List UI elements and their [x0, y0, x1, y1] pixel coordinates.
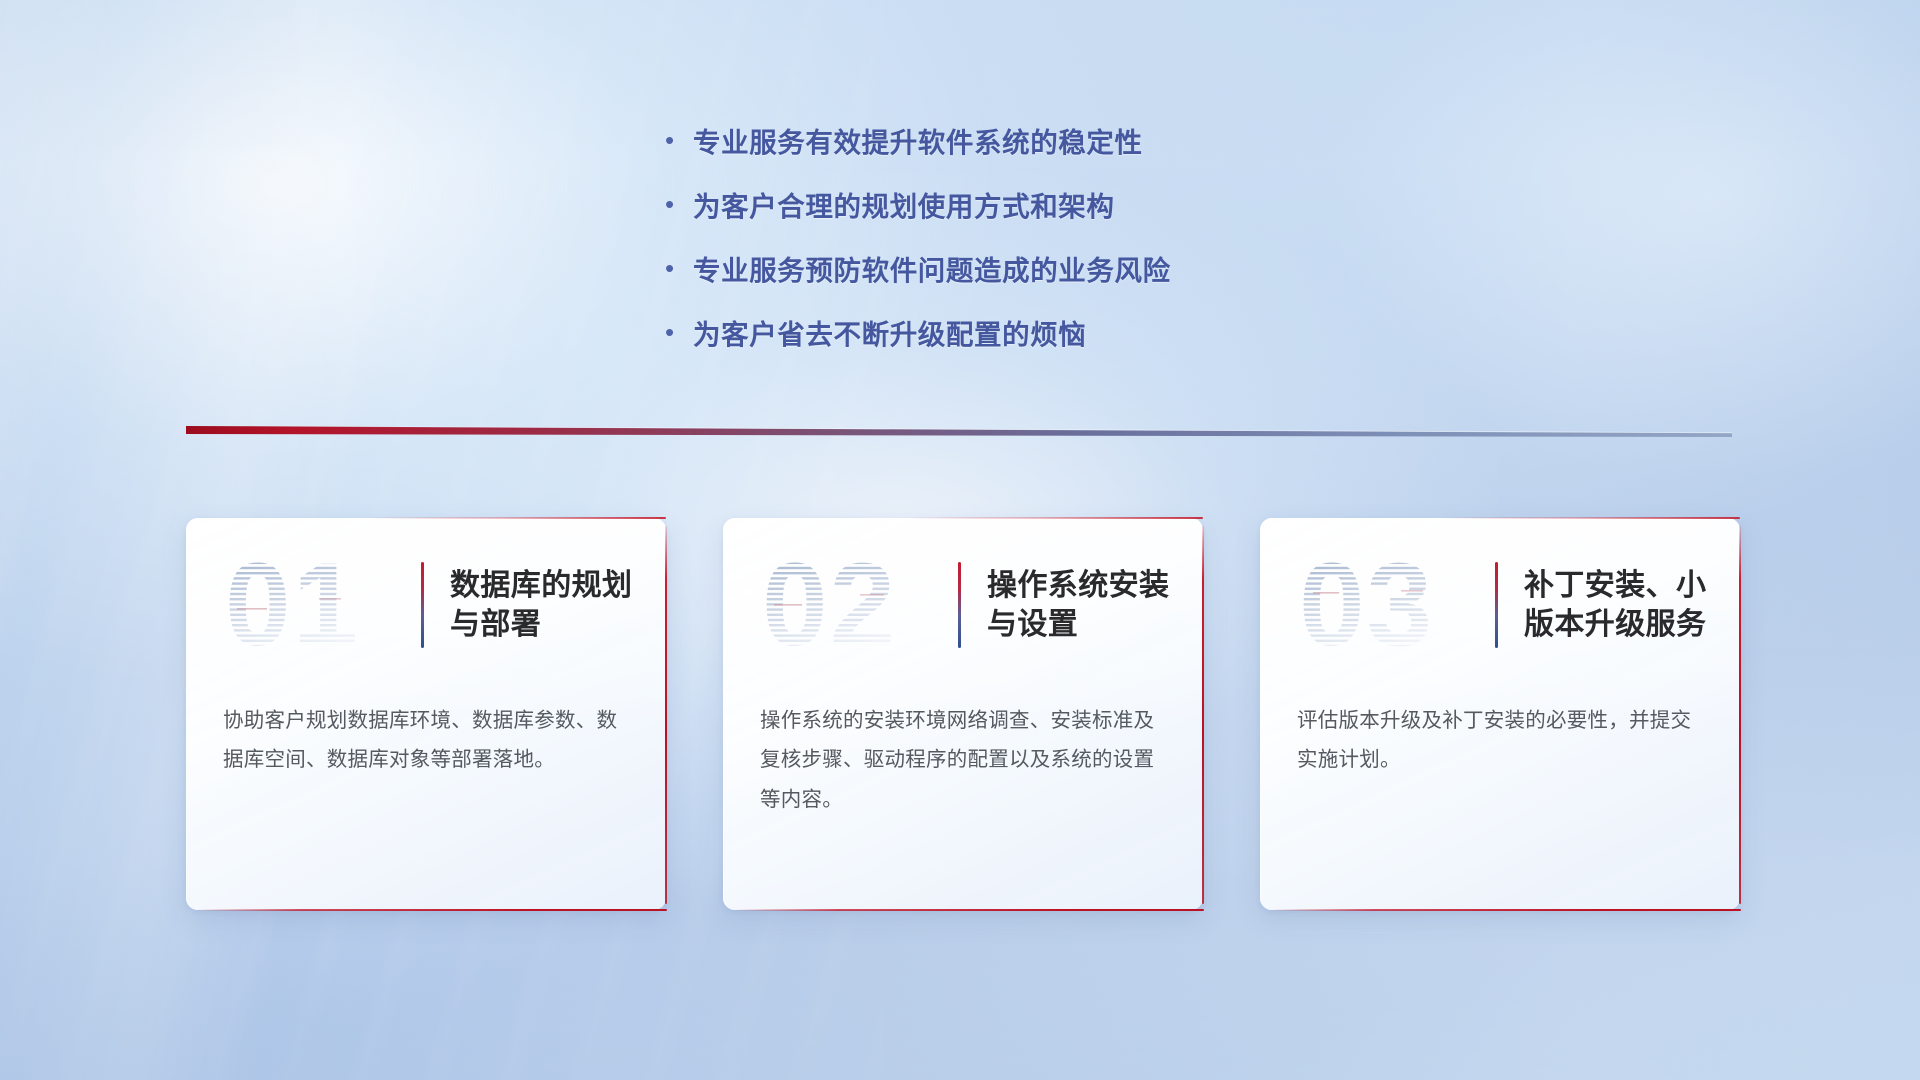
card-number-watermark: 01 [223, 546, 413, 664]
service-card[interactable]: 02 操作系统安装 与设置 操作系统的安装环境网络调查、安装标准及复核步骤、驱动… [723, 518, 1203, 910]
card-surface: 02 操作系统安装 与设置 操作系统的安装环境网络调查、安装标准及复核步骤、驱动… [723, 518, 1203, 910]
card-number-watermark: 02 [760, 546, 950, 664]
card-surface: 01 数据库的规划 与部署 协助客户规划数据库环境、数据库参数、数据库空间、数据… [186, 518, 666, 910]
bullet-marker-icon: • [663, 255, 693, 281]
background-noise [0, 0, 300, 150]
bullet-marker-icon: • [663, 191, 693, 217]
card-header: 03 补丁安装、小 版本升级服务 [1297, 545, 1714, 665]
bullet-text: 专业服务预防软件问题造成的业务风险 [693, 248, 1171, 288]
card-title: 数据库的规划 与部署 [450, 566, 632, 644]
svg-text:03: 03 [1299, 546, 1434, 664]
list-item: • 专业服务预防软件问题造成的业务风险 [663, 236, 1423, 300]
card-description: 操作系统的安装环境网络调查、安装标准及复核步骤、驱动程序的配置以及系统的设置等内… [760, 701, 1169, 819]
card-accent-bar [1495, 562, 1498, 648]
service-card[interactable]: 01 数据库的规划 与部署 协助客户规划数据库环境、数据库参数、数据库空间、数据… [186, 518, 666, 910]
card-description: 评估版本升级及补丁安装的必要性，并提交实施计划。 [1297, 701, 1706, 780]
list-item: • 专业服务有效提升软件系统的稳定性 [663, 108, 1423, 172]
card-header: 02 操作系统安装 与设置 [760, 545, 1177, 665]
card-surface: 03 补丁安装、小 版本升级服务 评估版本升级及补丁安装的必要性，并提交实施计划… [1260, 518, 1740, 910]
card-description: 协助客户规划数据库环境、数据库参数、数据库空间、数据库对象等部署落地。 [223, 701, 632, 780]
bullet-text: 为客户省去不断升级配置的烦恼 [693, 312, 1086, 352]
card-accent-bar [958, 562, 961, 648]
card-number-watermark: 03 [1297, 546, 1487, 664]
section-divider [186, 424, 1732, 442]
bullet-text: 专业服务有效提升软件系统的稳定性 [693, 120, 1143, 160]
card-accent-bar [421, 562, 424, 648]
card-title: 操作系统安装 与设置 [987, 566, 1169, 644]
list-item: • 为客户合理的规划使用方式和架构 [663, 172, 1423, 236]
benefits-bullet-list: • 专业服务有效提升软件系统的稳定性 • 为客户合理的规划使用方式和架构 • 专… [663, 108, 1423, 364]
bullet-marker-icon: • [663, 127, 693, 153]
card-header: 01 数据库的规划 与部署 [223, 545, 640, 665]
bullet-text: 为客户合理的规划使用方式和架构 [693, 184, 1115, 224]
bullet-marker-icon: • [663, 319, 693, 345]
service-card[interactable]: 03 补丁安装、小 版本升级服务 评估版本升级及补丁安装的必要性，并提交实施计划… [1260, 518, 1740, 910]
list-item: • 为客户省去不断升级配置的烦恼 [663, 300, 1423, 364]
service-card-row: 01 数据库的规划 与部署 协助客户规划数据库环境、数据库参数、数据库空间、数据… [186, 518, 1740, 918]
svg-text:01: 01 [225, 546, 360, 664]
card-title: 补丁安装、小 版本升级服务 [1524, 566, 1706, 644]
